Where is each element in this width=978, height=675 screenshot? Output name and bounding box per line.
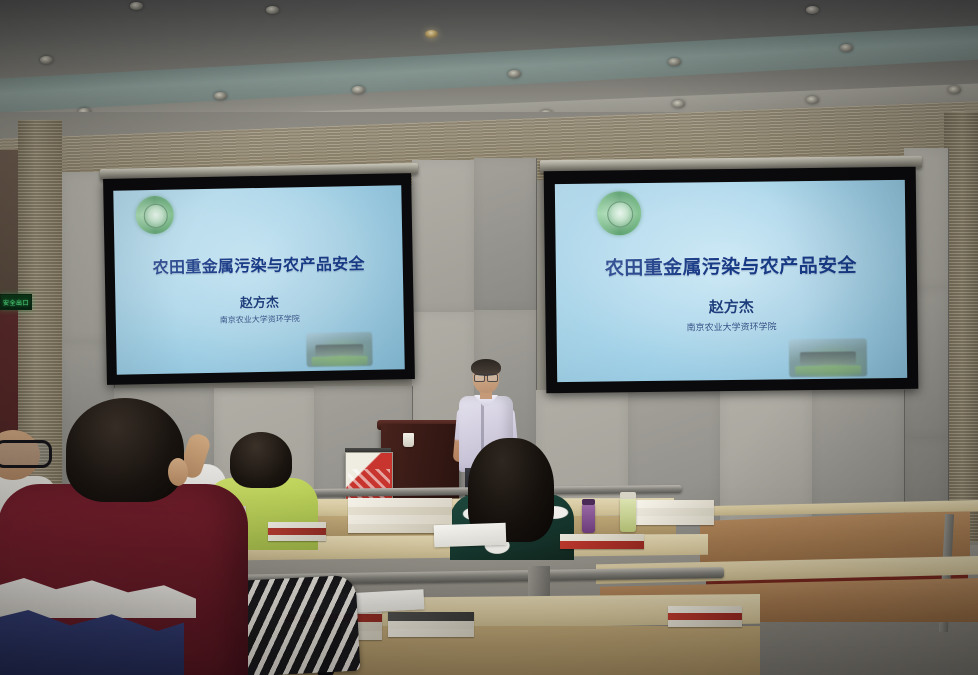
ceiling-downlight bbox=[40, 56, 53, 64]
ceiling-downlight bbox=[948, 86, 961, 94]
loose-paper-sheet bbox=[434, 523, 507, 547]
foreground-student bbox=[28, 398, 248, 675]
lecture-hall-photo: 安全出口 农田重金属污染与农产品安全 赵方杰 南京农业大学资环学院 农田重金属污… bbox=[0, 0, 978, 675]
wall-panel bbox=[412, 160, 475, 313]
slide-presenter-name: 赵方杰 bbox=[556, 294, 906, 319]
slide-affiliation: 南京农业大学资环学院 bbox=[116, 311, 404, 328]
book bbox=[668, 606, 742, 613]
book bbox=[268, 535, 326, 541]
university-logo-icon bbox=[597, 191, 642, 236]
paper-bundle bbox=[636, 516, 714, 525]
bottle-cap bbox=[582, 499, 595, 505]
paper-bundle bbox=[348, 515, 452, 524]
left-projection-screen: 农田重金属污染与农产品安全 赵方杰 南京农业大学资环学院 bbox=[113, 185, 404, 374]
paper-cup bbox=[403, 433, 414, 447]
slide-affiliation: 南京农业大学资环学院 bbox=[557, 318, 907, 335]
book bbox=[388, 629, 474, 637]
paper-bundle bbox=[636, 508, 714, 516]
paper-stack bbox=[636, 500, 714, 530]
ceiling-downlight bbox=[806, 96, 819, 104]
book bbox=[388, 621, 474, 629]
right-projection-screen: 农田重金属污染与农产品安全 赵方杰 南京农业大学资环学院 bbox=[555, 180, 907, 382]
book bbox=[668, 613, 742, 620]
university-logo-icon bbox=[135, 196, 174, 235]
ceiling-downlight bbox=[840, 44, 853, 52]
book-stack bbox=[560, 534, 644, 548]
left-wall-upper bbox=[0, 150, 20, 300]
slide-title: 农田重金属污染与农产品安全 bbox=[115, 249, 403, 279]
ceiling-downlight-lit bbox=[425, 30, 438, 38]
book bbox=[560, 541, 644, 549]
book bbox=[268, 528, 326, 535]
slide-presenter-name: 赵方杰 bbox=[115, 289, 403, 314]
ceiling-downlight bbox=[668, 58, 681, 66]
foreground-student-head bbox=[66, 398, 184, 502]
foreground-student-ear bbox=[168, 458, 188, 486]
slide-campus-photo bbox=[306, 332, 373, 367]
ceiling-downlight bbox=[130, 2, 143, 10]
paper-bundle bbox=[636, 500, 714, 508]
slide-title: 农田重金属污染与农产品安全 bbox=[556, 250, 906, 281]
right-projection-screen-frame: 农田重金属污染与农产品安全 赵方杰 南京农业大学资环学院 bbox=[544, 167, 919, 394]
brick-column-right bbox=[944, 112, 978, 542]
book-stack bbox=[268, 522, 326, 540]
wall-panel bbox=[474, 158, 537, 311]
presenter-glasses-icon bbox=[474, 374, 498, 380]
ceiling-downlight bbox=[214, 92, 227, 100]
ceiling-downlight bbox=[352, 86, 365, 94]
ceiling-downlight bbox=[266, 6, 279, 14]
ceiling-downlight bbox=[508, 70, 521, 78]
book bbox=[560, 534, 644, 541]
ceiling-downlight bbox=[806, 6, 819, 14]
emergency-exit-sign: 安全出口 bbox=[0, 294, 32, 310]
book-stack bbox=[668, 606, 742, 628]
paper-bundle bbox=[348, 507, 452, 515]
paper-bundle bbox=[348, 498, 452, 507]
bottle-cap bbox=[620, 492, 636, 499]
water-bottle-green bbox=[620, 498, 636, 532]
left-projection-screen-frame: 农田重金属污染与农产品安全 赵方杰 南京农业大学资环学院 bbox=[103, 173, 415, 385]
book-stack bbox=[388, 612, 474, 638]
ceiling-downlight bbox=[672, 100, 685, 108]
exit-sign-label: 安全出口 bbox=[3, 298, 29, 307]
book bbox=[388, 612, 474, 621]
book bbox=[668, 620, 742, 627]
slide-campus-photo bbox=[789, 338, 867, 377]
water-bottle-purple bbox=[582, 504, 595, 533]
